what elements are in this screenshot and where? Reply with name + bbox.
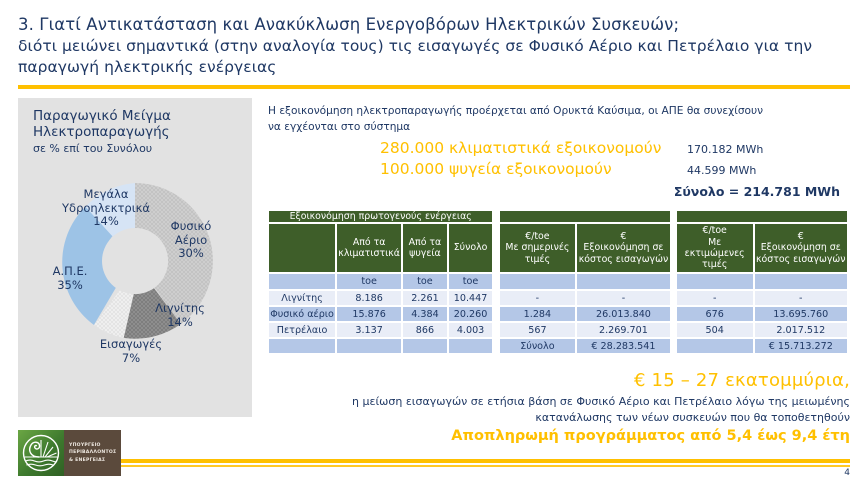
col-header-eur-per-toe-now: €/toe Με σημερινές τιμές [499,223,577,273]
page-title: 3. Γιατί Αντικατάσταση και Ανακύκλωση Εν… [18,14,844,79]
highlight-label-fridge: 100.000 ψυγεία εξοικονομούν [380,159,687,180]
col-header-eur-per-toe-now-sub: Με σημερινές τιμές [500,242,576,265]
pie-label-lignite: Λιγνίτης 14% [154,302,206,329]
pie-label-natural-gas: Φυσικό Αέριο 30% [163,220,219,261]
ministry-line-2: ΠΕΡΙΒΑΛΛΟΝΤΟΣ [69,450,116,455]
col-header-savings-est: € Εξοικονόμηση σε κόστος εισαγωγών [754,223,848,273]
col-header-eur-per-toe-now-main: €/toe [500,231,576,242]
row-oil-fridge: 866 [402,322,448,338]
table-row: Φυσικό αέριο 15.876 4.384 20.260 1.284 2… [268,306,848,322]
pie-label-res-name: Α.Π.Ε. [53,264,88,278]
page-number: 4 [844,468,850,478]
row-lignite-total: 10.447 [448,290,494,306]
row-lignite-fridge: 2.261 [402,290,448,306]
row-gas-eur-toe-est: 676 [676,306,754,322]
pie-label-res-value: 35% [57,278,83,292]
group-header-current-prices [499,210,671,223]
group-header-estimated-prices [676,210,848,223]
slide-root: 3. Γιατί Αντικατάσταση και Ανακύκλωση Εν… [0,0,868,488]
col-header-savings-est-sub: Εξοικονόμηση σε κόστος εισαγωγών [755,242,847,265]
row-lignite-eur-toe-est: - [676,290,754,306]
row-oil-ac: 3.137 [336,322,402,338]
row-gas-total: 20.260 [448,306,494,322]
chart-title: Παραγωγικό Μείγμα Ηλεκτροπαραγωγής σε % … [33,108,243,155]
total-label: Σύνολο [499,338,577,354]
row-gas-fridge: 4.384 [402,306,448,322]
conclusion-block: € 15 – 27 εκατομμύρια, η μείωση εισαγωγώ… [268,370,850,446]
total-name [268,338,336,354]
pie-label-imports: Εισαγωγές 7% [96,338,166,365]
row-oil-eur-toe-now: 567 [499,322,577,338]
row-oil-total: 4.003 [448,322,494,338]
unit-eur-toe-est [676,273,754,290]
conclusion-payback: Αποπληρωμή προγράμματος από 5,4 έως 9,4 … [268,427,850,446]
unit-savings-est [754,273,848,290]
highlight-row-ac: 280.000 κλιματιστικά εξοικονομούν 170.18… [380,138,850,159]
row-oil-savings-now: 2.269.701 [576,322,670,338]
conclusion-body: η μείωση εισαγωγών σε ετήσια βάση σε Φυσ… [268,394,850,426]
row-gas-ac: 15.876 [336,306,402,322]
ministry-logo: ΥΠΟΥΡΓΕΙΟ ΠΕΡΙΒΑΛΛΟΝΤΟΣ & ΕΝΕΡΓΕΙΑΣ [18,430,121,476]
conclusion-body-line1: η μείωση εισαγωγών σε ετήσια βάση σε Φυσ… [352,395,850,408]
pie-label-imports-value: 7% [122,351,140,365]
table-unit-row: toe toe toe [268,273,848,290]
row-lignite-name: Λιγνίτης [268,290,336,306]
col-header-savings-now-sub: Εξοικονόμηση σε κόστος εισαγωγών [577,242,669,265]
total-savings-now: € 28.283.541 [576,338,670,354]
divider-top [18,85,850,89]
pie-label-lignite-value: 14% [167,315,193,329]
ministry-line-1: ΥΠΟΥΡΓΕΙΟ [69,443,101,448]
row-gas-savings-est: 13.695.760 [754,306,848,322]
donut-hole [102,228,168,294]
col-header-name [268,223,336,273]
total-total [448,338,494,354]
divider-bottom-thin [18,465,850,467]
savings-highlights: 280.000 κλιματιστικά εξοικονομούν 170.18… [380,138,850,199]
row-lignite-ac: 8.186 [336,290,402,306]
pie-label-lignite-name: Λιγνίτης [155,301,205,315]
ministry-name: ΥΠΟΥΡΓΕΙΟ ΠΕΡΙΒΑΛΛΟΝΤΟΣ & ΕΝΕΡΓΕΙΑΣ [64,430,121,476]
col-header-savings-now: € Εξοικονόμηση σε κόστος εισαγωγών [576,223,670,273]
col-header-savings-now-main: € [577,231,669,242]
table-row: Πετρέλαιο 3.137 866 4.003 567 2.269.701 … [268,322,848,338]
col-header-eur-per-toe-est: €/toe Με εκτιμώμενες τιμές [676,223,754,273]
pie-label-natural-gas-name: Φυσικό Αέριο [171,219,212,247]
row-lignite-savings-est: - [754,290,848,306]
ministry-line-3: & ΕΝΕΡΓΕΙΑΣ [69,458,105,463]
pie-label-large-hydro: Μεγάλα Υδροηλεκτρικά 14% [60,188,152,229]
highlight-row-fridge: 100.000 ψυγεία εξοικονομούν 44.599 MWh [380,159,850,180]
conclusion-headline: € 15 – 27 εκατομμύρια, [268,370,850,392]
pie-label-large-hydro-name: Μεγάλα Υδροηλεκτρικά [62,187,150,215]
pie-label-natural-gas-value: 30% [178,246,204,260]
table-row: Λιγνίτης 8.186 2.261 10.447 - - - - [268,290,848,306]
total-eur-toe-est [676,338,754,354]
group-header-primary-energy: Εξοικονόμηση πρωτογενούς ενέργειας [268,210,493,223]
emblem-svg [18,430,64,476]
highlight-value-ac: 170.182 MWh [687,139,763,160]
intro-paragraph: Η εξοικονόμηση ηλεκτροπαραγωγής προέρχετ… [268,104,766,136]
conclusion-body-line2: κατανάλωσης των νέων συσκευών που θα τοπ… [535,411,850,424]
table-header-row: Από τα κλιματιστικά Από τα ψυγεία Σύνολο… [268,223,848,273]
row-oil-name: Πετρέλαιο [268,322,336,338]
col-header-from-fridge: Από τα ψυγεία [402,223,448,273]
chart-subtitle: σε % επί του Συνόλου [33,142,243,155]
unit-name [268,273,336,290]
row-gas-eur-toe-now: 1.284 [499,306,577,322]
unit-eur-toe-now [499,273,577,290]
unit-total: toe [448,273,494,290]
total-savings-est: € 15.713.272 [754,338,848,354]
col-header-savings-est-main: € [755,231,847,242]
highlight-label-ac: 280.000 κλιματιστικά εξοικονομούν [380,138,687,159]
ministry-name-lines: ΥΠΟΥΡΓΕΙΟ ΠΕΡΙΒΑΛΛΟΝΤΟΣ & ΕΝΕΡΓΕΙΑΣ [64,442,116,463]
divider-bottom [18,459,850,463]
row-lignite-eur-toe-now: - [499,290,577,306]
chart-title-text: Παραγωγικό Μείγμα Ηλεκτροπαραγωγής [33,108,171,140]
row-oil-savings-est: 2.017.512 [754,322,848,338]
table-total-row: Σύνολο € 28.283.541 € 15.713.272 [268,338,848,354]
energy-savings-table: Εξοικονόμηση πρωτογενούς ενέργειας Από τ… [268,210,848,354]
highlight-value-fridge: 44.599 MWh [687,160,756,181]
row-oil-eur-toe-est: 504 [676,322,754,338]
table-group-header-row: Εξοικονόμηση πρωτογενούς ενέργειας [268,210,848,223]
row-gas-name: Φυσικό αέριο [268,306,336,322]
title-line-1: 3. Γιατί Αντικατάσταση και Ανακύκλωση Εν… [18,14,844,36]
col-header-eur-per-toe-est-sub: Με εκτιμώμενες τιμές [677,237,753,271]
col-header-total: Σύνολο [448,223,494,273]
row-lignite-savings-now: - [576,290,670,306]
unit-fridge: toe [402,273,448,290]
title-line-2: διότι μειώνει σημαντικά (στην αναλογία τ… [18,36,844,79]
total-ac [336,338,402,354]
col-header-from-ac: Από τα κλιματιστικά [336,223,402,273]
pie-label-large-hydro-value: 14% [93,214,119,228]
row-gas-savings-now: 26.013.840 [576,306,670,322]
highlight-total: Σύνολο = 214.781 MWh [380,184,848,199]
total-fridge [402,338,448,354]
pie-label-imports-name: Εισαγωγές [100,337,162,351]
unit-savings-now [576,273,670,290]
pie-label-res: Α.Π.Ε. 35% [42,265,98,292]
col-header-eur-per-toe-est-main: €/toe [677,225,753,236]
ministry-emblem-icon [18,430,64,476]
unit-ac: toe [336,273,402,290]
